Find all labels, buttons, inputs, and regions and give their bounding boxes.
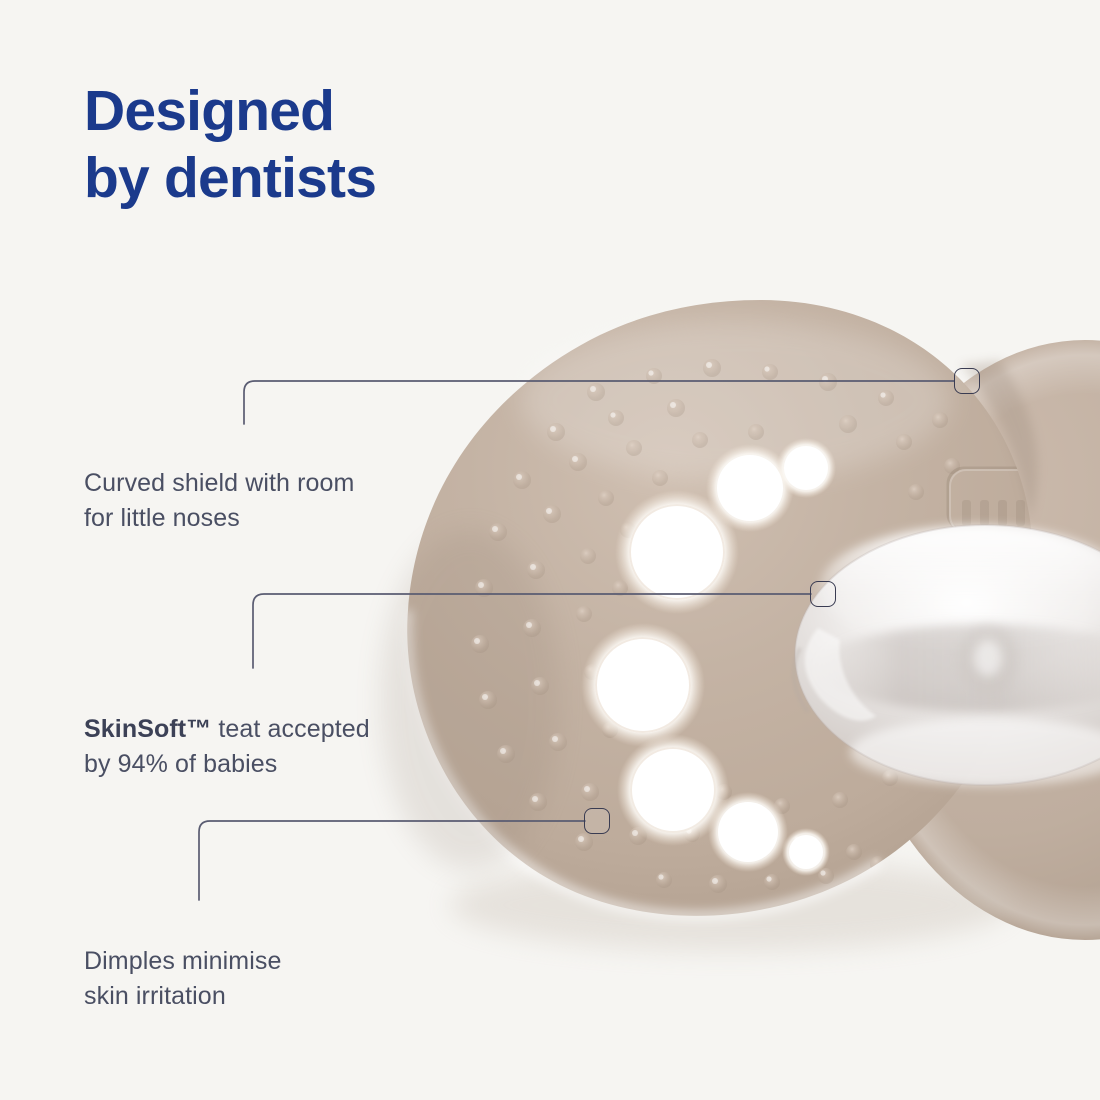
- marker-skinsoft-teat[interactable]: [810, 581, 836, 607]
- ventilation-holes: [581, 438, 836, 876]
- pacifier-second-lobe: [850, 340, 1100, 940]
- infographic-canvas: Designed by dentists Curved shield with …: [0, 0, 1100, 1100]
- callout-curved-shield-text: Curved shield with room for little noses: [84, 469, 354, 533]
- marker-curved-shield[interactable]: [954, 368, 980, 394]
- callout-skinsoft-teat: SkinSoft™ teat accepted by 94% of babies: [84, 676, 504, 783]
- silicone-teat: [794, 525, 1100, 786]
- embossed-brand-mark: [948, 468, 1046, 532]
- dimple-texture: [471, 359, 960, 893]
- callout-skinsoft-lead: SkinSoft™: [84, 715, 211, 743]
- callout-curved-shield: Curved shield with room for little noses: [84, 430, 504, 537]
- pacifier-shield: [380, 300, 1038, 916]
- callout-dimples: Dimples minimise skin irritation: [84, 908, 504, 1015]
- callout-dimples-text: Dimples minimise skin irritation: [84, 947, 281, 1011]
- page-title: Designed by dentists: [84, 78, 644, 213]
- marker-dimples[interactable]: [584, 808, 610, 834]
